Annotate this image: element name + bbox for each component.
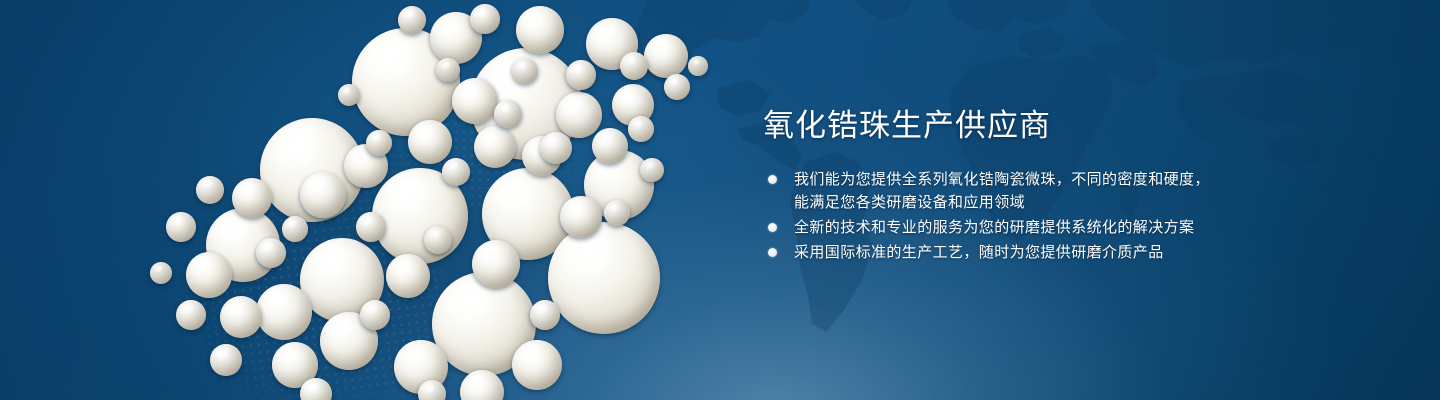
promo-banner: 氧化锆珠生产供应商 我们能为您提供全系列氧化锆陶瓷微珠，不同的密度和硬度， 能满… [0, 0, 1440, 400]
bullet-line: 全新的技术和专业的服务为您的研磨提供系统化的解决方案 [794, 216, 1365, 239]
bullet-text: 全新的技术和专业的服务为您的研磨提供系统化的解决方案 [794, 216, 1365, 239]
bullet-text: 采用国际标准的生产工艺，随时为您提供研磨介质产品 [794, 241, 1365, 264]
banner-headline: 氧化锆珠生产供应商 [763, 106, 1051, 146]
bullet-text: 我们能为您提供全系列氧化锆陶瓷微珠，不同的密度和硬度， 能满足您各类研磨设备和应… [794, 168, 1365, 214]
bullet-item: 采用国际标准的生产工艺，随时为您提供研磨介质产品 [765, 241, 1365, 264]
bullet-dot-icon [768, 248, 777, 257]
bullet-line: 采用国际标准的生产工艺，随时为您提供研磨介质产品 [794, 241, 1365, 264]
bullet-item: 我们能为您提供全系列氧化锆陶瓷微珠，不同的密度和硬度， 能满足您各类研磨设备和应… [765, 168, 1365, 214]
banner-text-block: 氧化锆珠生产供应商 我们能为您提供全系列氧化锆陶瓷微珠，不同的密度和硬度， 能满… [763, 0, 1403, 400]
bullet-line: 我们能为您提供全系列氧化锆陶瓷微珠，不同的密度和硬度， [794, 168, 1365, 191]
bullet-line: 能满足您各类研磨设备和应用领域 [794, 191, 1365, 214]
zirconia-beads-photo [0, 0, 760, 400]
banner-bullet-list: 我们能为您提供全系列氧化锆陶瓷微珠，不同的密度和硬度， 能满足您各类研磨设备和应… [765, 168, 1365, 266]
bullet-dot-icon [768, 223, 777, 232]
bullet-item: 全新的技术和专业的服务为您的研磨提供系统化的解决方案 [765, 216, 1365, 239]
bullet-dot-icon [768, 175, 777, 184]
